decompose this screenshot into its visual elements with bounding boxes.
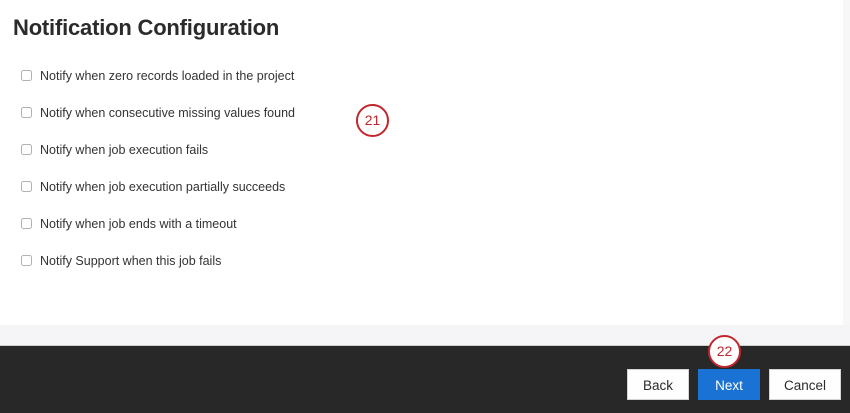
next-button[interactable]: Next: [698, 369, 760, 400]
notification-options-list: Notify when zero records loaded in the p…: [21, 66, 541, 288]
checkbox-notify-zero-records[interactable]: [21, 70, 32, 81]
back-button[interactable]: Back: [627, 369, 689, 400]
panel-right-edge: [843, 0, 850, 325]
checkbox-notify-job-execution-fails[interactable]: [21, 144, 32, 155]
notification-option-row[interactable]: Notify when job ends with a timeout: [21, 214, 541, 233]
notification-option-label: Notify when job ends with a timeout: [40, 216, 237, 232]
checkbox-notify-support-job-fails[interactable]: [21, 255, 32, 266]
content-panel: Notification Configuration Notify when z…: [0, 0, 850, 325]
notification-configuration-screen: Notification Configuration Notify when z…: [0, 0, 850, 413]
cancel-button[interactable]: Cancel: [769, 369, 841, 400]
notification-option-row[interactable]: Notify when consecutive missing values f…: [21, 103, 541, 122]
notification-option-label: Notify when zero records loaded in the p…: [40, 68, 294, 84]
checkbox-notify-consecutive-missing-values[interactable]: [21, 107, 32, 118]
notification-option-row[interactable]: Notify Support when this job fails: [21, 251, 541, 270]
notification-option-row[interactable]: Notify when job execution partially succ…: [21, 177, 541, 196]
notification-option-row[interactable]: Notify when zero records loaded in the p…: [21, 66, 541, 85]
notification-option-label: Notify Support when this job fails: [40, 253, 221, 269]
wizard-button-row: Back Next Cancel: [627, 369, 841, 400]
annotation-badge-21: 21: [356, 104, 389, 137]
page-title: Notification Configuration: [13, 14, 279, 42]
checkbox-notify-job-partially-succeeds[interactable]: [21, 181, 32, 192]
notification-option-label: Notify when job execution fails: [40, 142, 208, 158]
checkbox-notify-job-timeout[interactable]: [21, 218, 32, 229]
notification-option-label: Notify when consecutive missing values f…: [40, 105, 295, 121]
annotation-badge-22: 22: [708, 335, 741, 368]
notification-option-label: Notify when job execution partially succ…: [40, 179, 285, 195]
notification-option-row[interactable]: Notify when job execution fails: [21, 140, 541, 159]
